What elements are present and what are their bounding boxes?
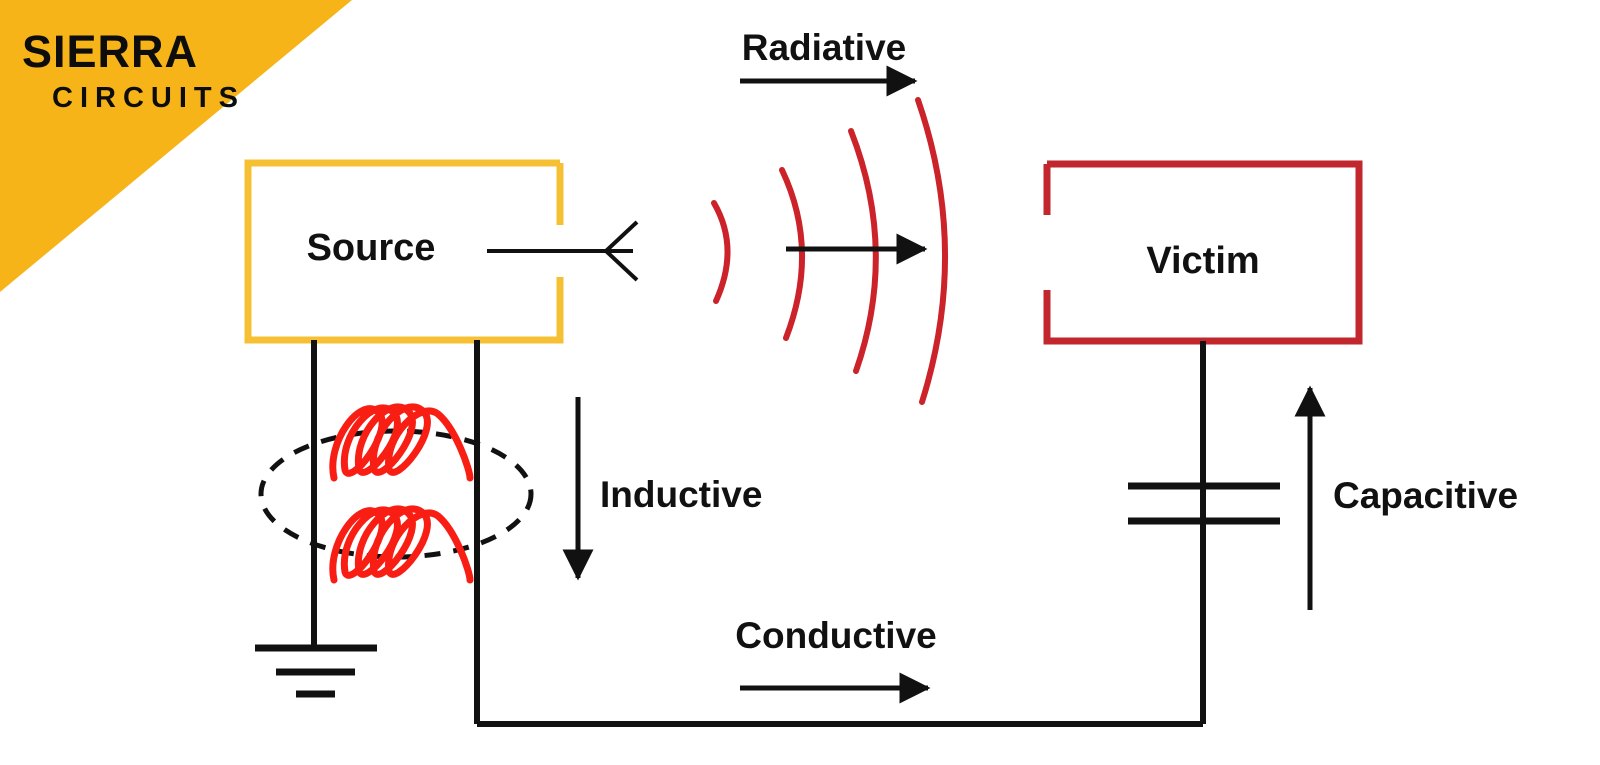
emi-coupling-diagram: SIERRA CIRCUITS Source Victim Radiative (0, 0, 1600, 765)
victim-block: Victim (1047, 164, 1359, 341)
conductive-label: Conductive (735, 615, 936, 656)
inductive-label: Inductive (600, 474, 762, 515)
brand-name-sierra: SIERRA (22, 26, 198, 77)
victim-label: Victim (1146, 240, 1259, 282)
inductive-coupling-group: Inductive (578, 397, 762, 578)
brand-banner: SIERRA CIRCUITS (0, 0, 352, 292)
coil-bottom (333, 509, 470, 580)
conductive-coupling-group: Conductive (477, 615, 1203, 724)
source-label: Source (307, 227, 436, 269)
capacitive-label: Capacitive (1333, 475, 1518, 516)
capacitive-coupling-group: Capacitive (1310, 388, 1518, 610)
wave-arc-2 (782, 170, 802, 338)
radiative-label: Radiative (742, 27, 907, 68)
antenna-icon (487, 222, 637, 280)
coil-top (333, 407, 470, 478)
wave-arc-1 (714, 203, 728, 301)
diagram-canvas: SIERRA CIRCUITS Source Victim Radiative (0, 0, 1600, 765)
brand-name-circuits: CIRCUITS (52, 82, 245, 114)
radiative-coupling-group: Radiative (714, 27, 945, 402)
ground-icon (255, 648, 377, 694)
